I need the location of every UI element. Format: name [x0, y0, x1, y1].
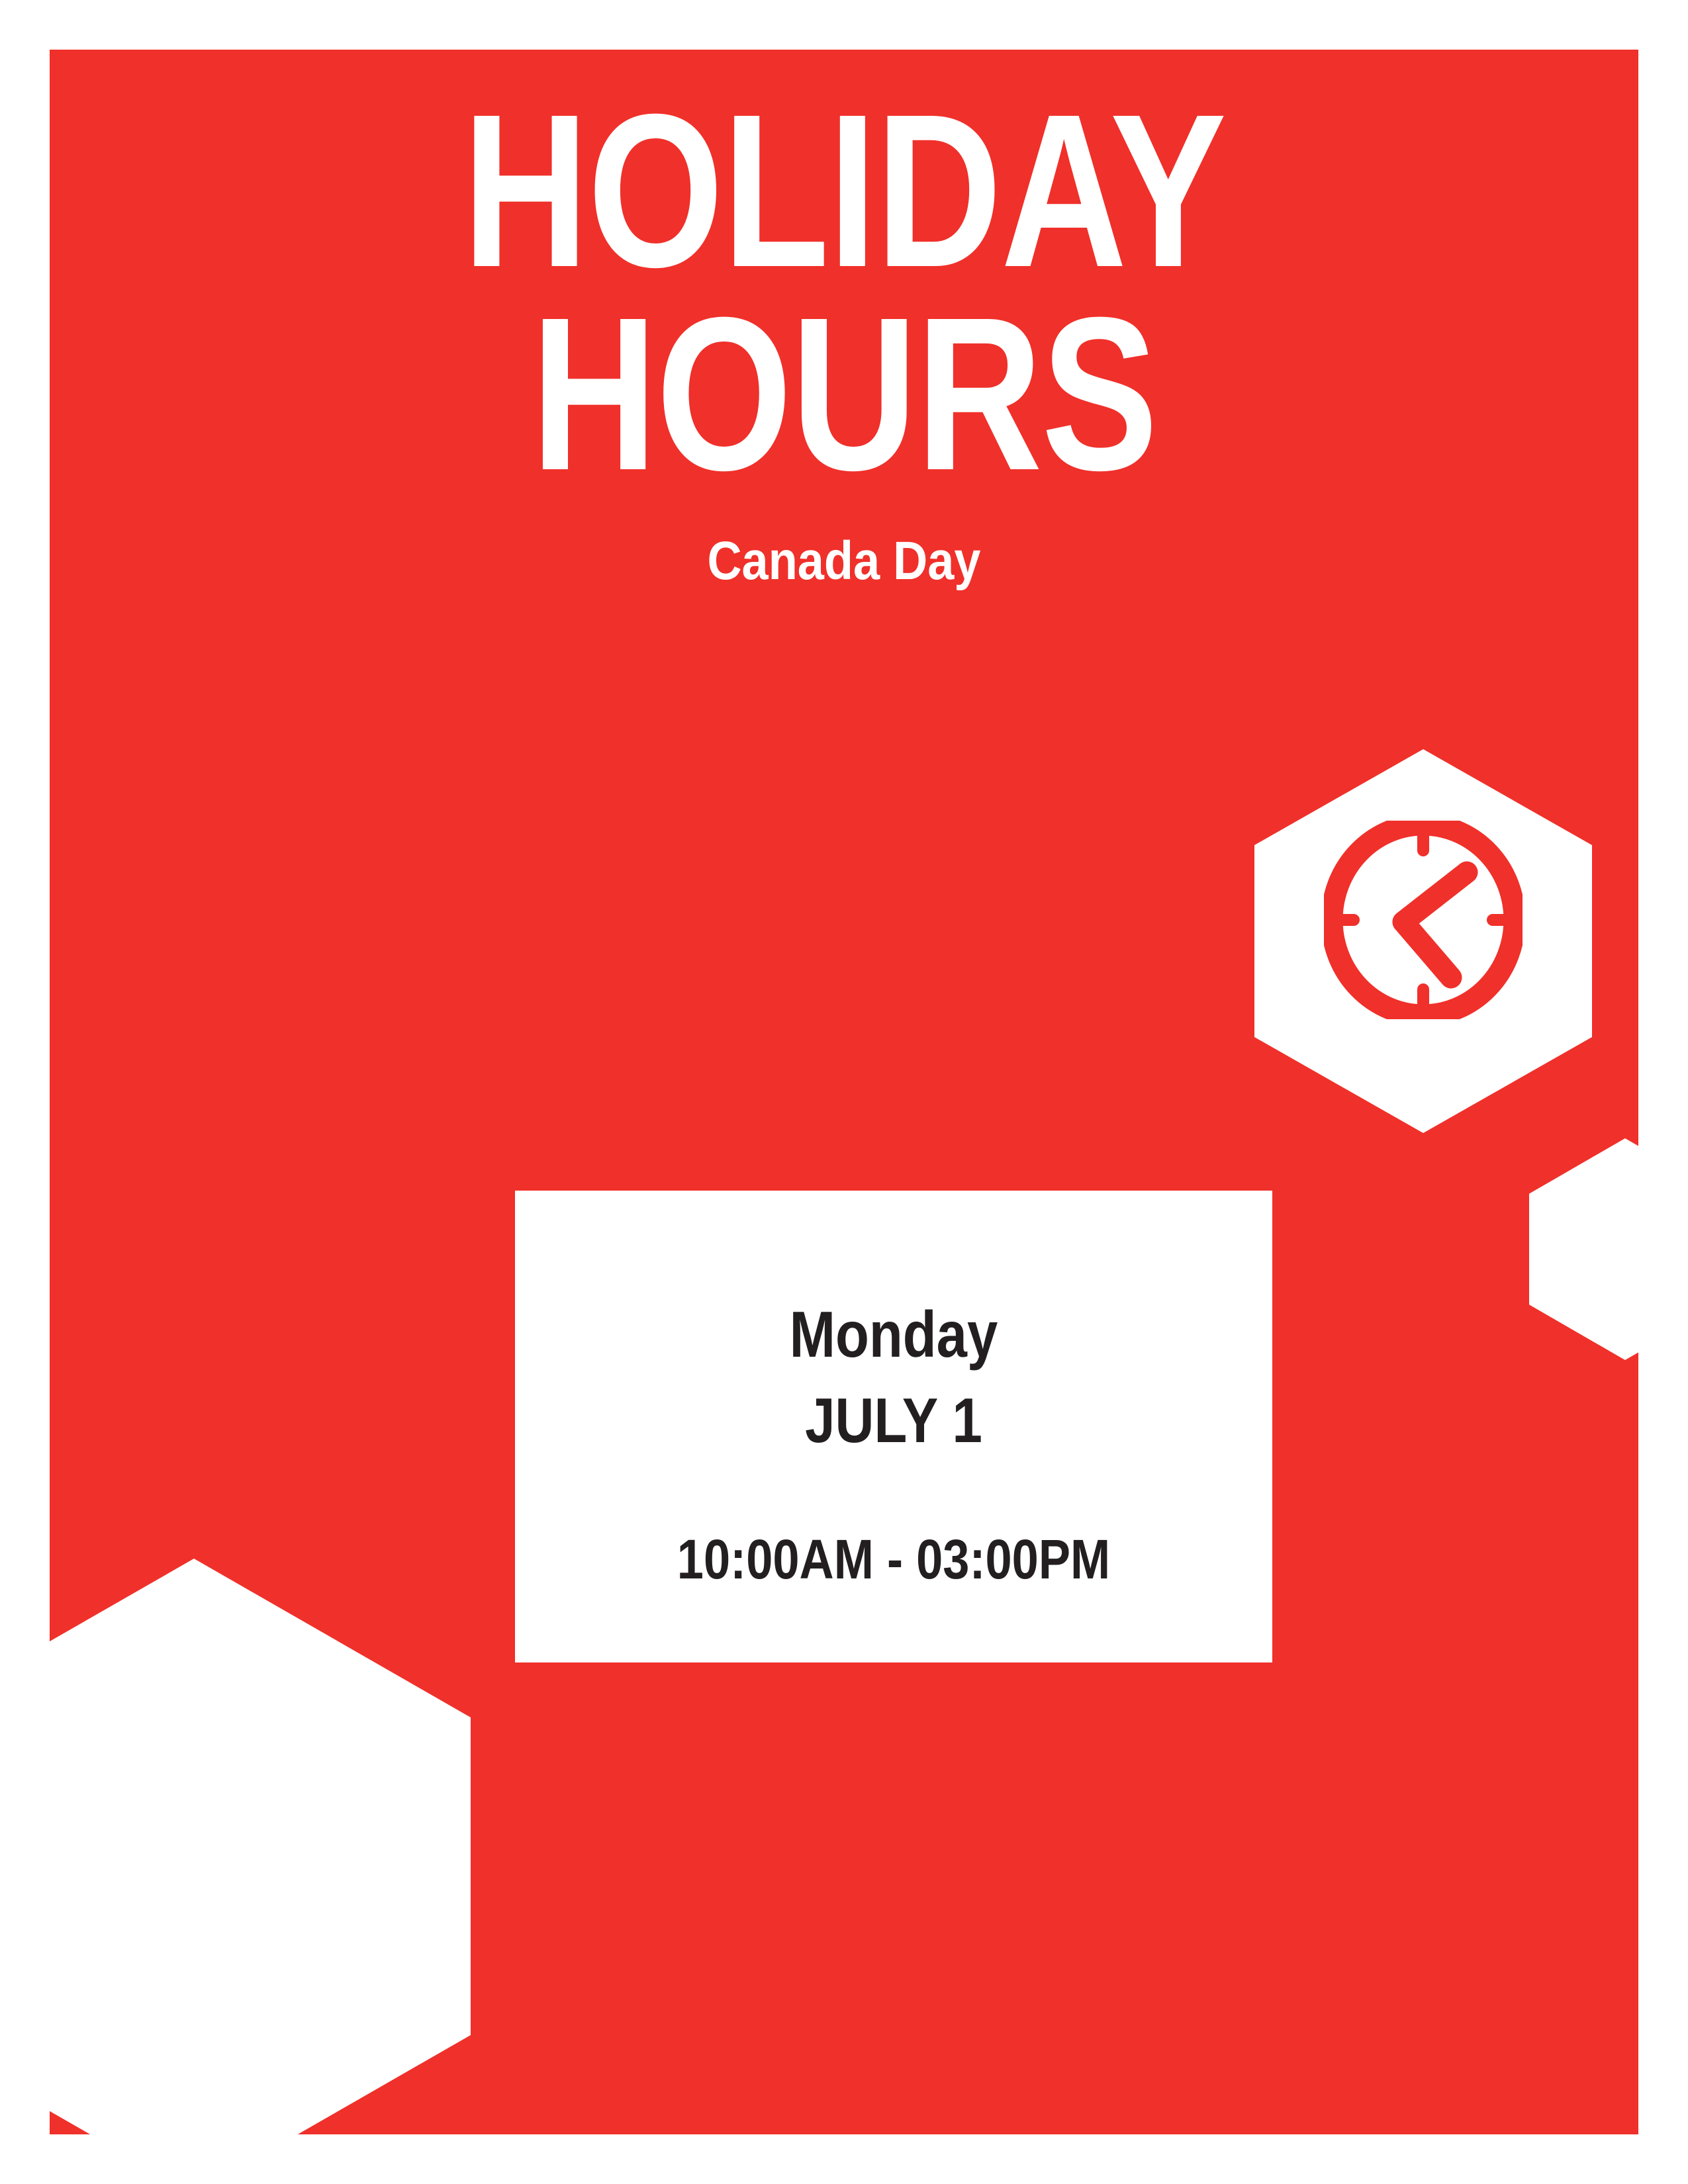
page-subtitle: Canada Day	[145, 534, 1543, 588]
card-date-label: JULY 1	[572, 1389, 1215, 1453]
card-time-range: 10:00AM - 03:00PM	[568, 1531, 1219, 1587]
red-background-panel: HOLIDAY HOURS Canada Day	[50, 50, 1638, 2134]
title-block: HOLIDAY HOURS Canada Day	[50, 89, 1638, 588]
page-title-line-1: HOLIDAY	[209, 89, 1479, 293]
card-day-label: Monday	[572, 1302, 1215, 1367]
page-title-line-2: HOURS	[209, 293, 1479, 496]
poster: HOLIDAY HOURS Canada Day	[0, 0, 1688, 2184]
clock-icon	[1324, 821, 1523, 1019]
hours-info-card: Monday JULY 1 10:00AM - 03:00PM	[515, 1191, 1272, 1662]
hexagon-icon-small	[1529, 1138, 1638, 1360]
hexagon-icon-bottom	[50, 1559, 471, 2134]
